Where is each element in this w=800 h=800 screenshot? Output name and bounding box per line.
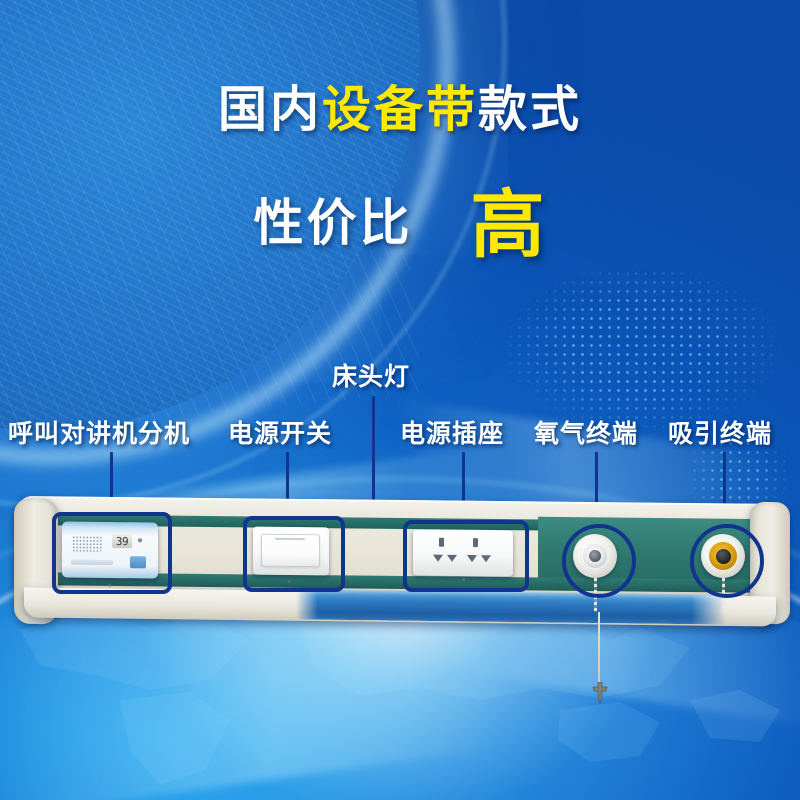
subheadline-text: 性价比 [254, 183, 413, 255]
headline-line-1: 国内设备带款式 [0, 86, 800, 135]
subheadline-emphasis: 高 [471, 165, 547, 272]
highlight-circle-oxygen [562, 524, 636, 598]
bed-lamp-diffuser [296, 589, 726, 624]
highlight-box-power-socket [403, 520, 529, 592]
callout-label-intercom: 呼叫对讲机分机 [8, 414, 190, 450]
promo-image-canvas: 国内设备带款式 性价比 高 呼叫对讲机分机 电源开关 床头灯 电源插座 氧气终端… [0, 0, 800, 800]
headline-line-2: 性价比 高 [0, 165, 800, 272]
callout-label-power-socket: 电源插座 [400, 414, 504, 450]
callout-label-bed-lamp: 床头灯 [332, 357, 410, 393]
highlight-box-power-switch [243, 516, 345, 592]
lamp-pull-cord[interactable] [598, 612, 600, 688]
highlight-circle-suction [690, 524, 764, 598]
highlight-box-intercom [52, 512, 172, 594]
headline-text-part2: 款式 [478, 83, 582, 137]
headline-text-part1: 国内 [218, 83, 322, 137]
pull-cord-handle-icon[interactable] [592, 682, 608, 704]
callout-label-suction: 吸引终端 [668, 414, 772, 450]
callout-label-oxygen: 氧气终端 [534, 414, 638, 450]
headline-text-highlight: 设备带 [322, 83, 478, 137]
callout-label-power-switch: 电源开关 [228, 414, 332, 450]
